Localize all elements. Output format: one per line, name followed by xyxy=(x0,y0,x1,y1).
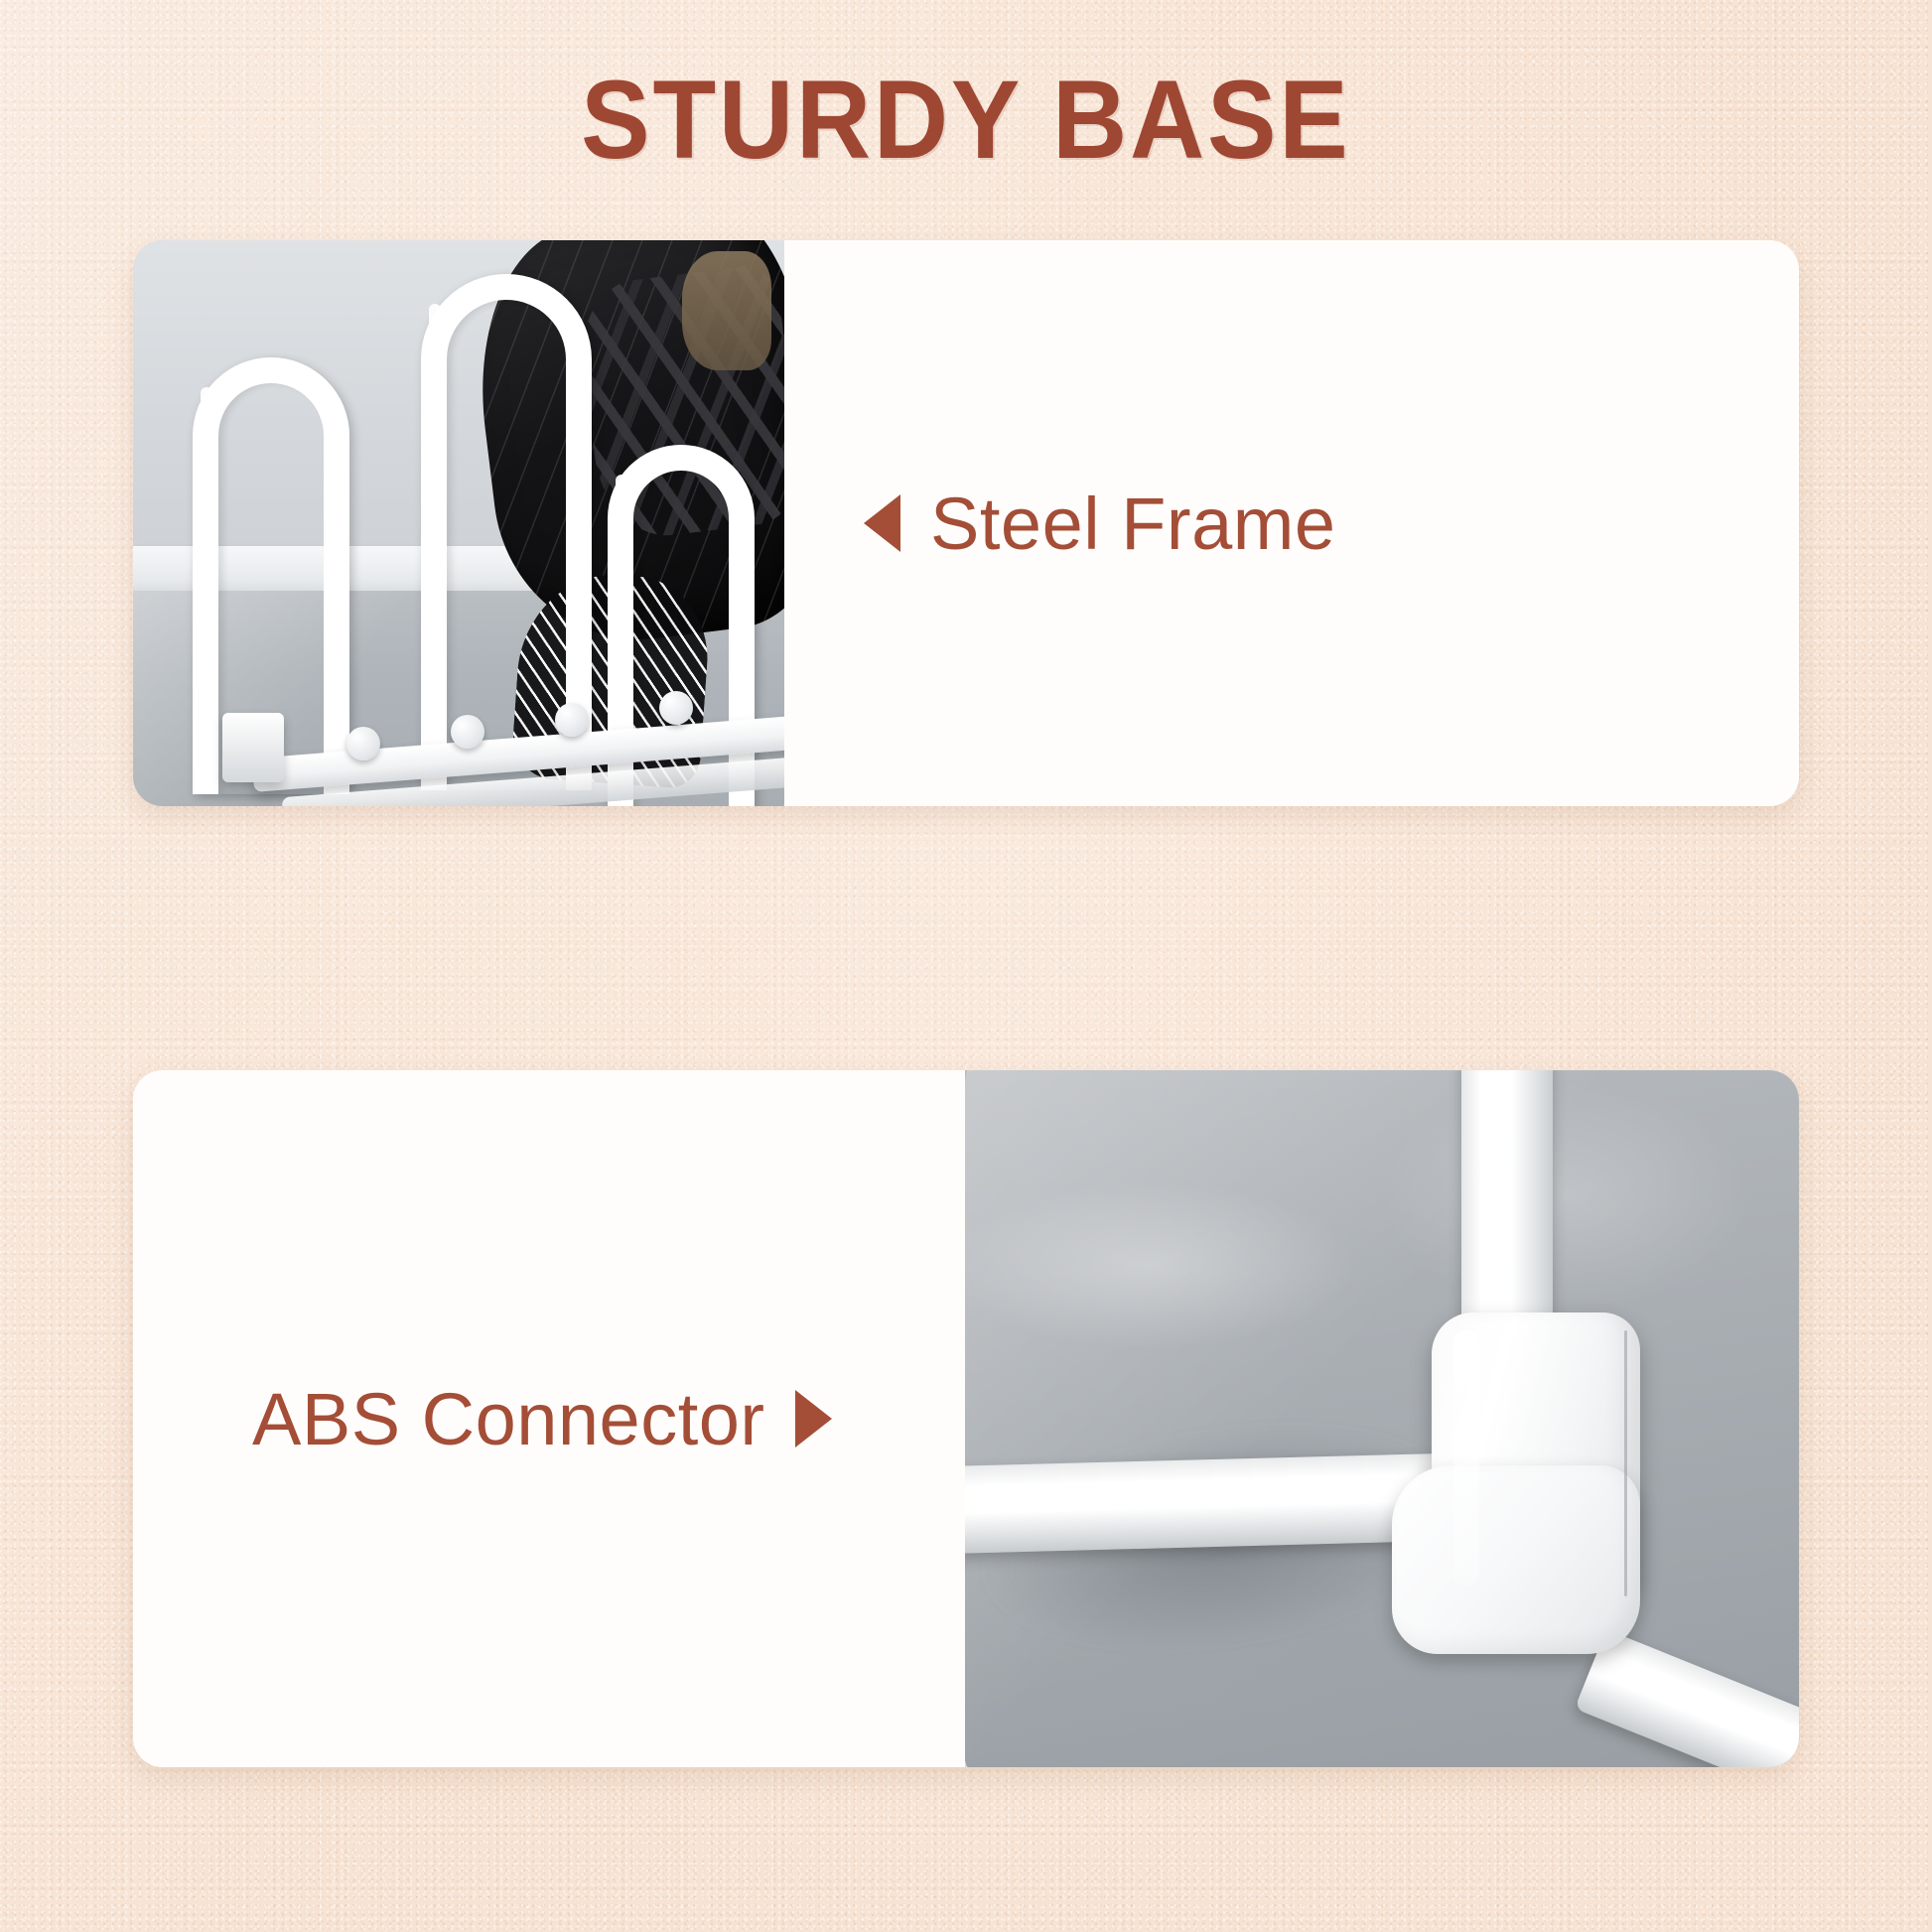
abs-connector-lower-joint xyxy=(1392,1465,1640,1654)
feature-card-steel-frame: Steel Frame xyxy=(133,240,1799,806)
steel-frame-label-panel: Steel Frame xyxy=(784,240,1799,806)
abs-connector-highlight xyxy=(1453,1330,1479,1587)
callout-abs-connector: ABS Connector xyxy=(133,1377,832,1461)
callout-steel-frame: Steel Frame xyxy=(784,482,1336,566)
triangle-right-icon xyxy=(795,1390,832,1448)
page-title-wrapper: STURDY BASE xyxy=(0,62,1932,179)
rack-peg xyxy=(555,703,589,737)
abs-connector-photo xyxy=(965,1070,1799,1767)
sneaker-heel-tab xyxy=(682,251,771,370)
page-title: STURDY BASE xyxy=(581,62,1350,179)
feature-card-abs-connector: ABS Connector xyxy=(133,1070,1799,1767)
rack-foot xyxy=(222,713,284,782)
triangle-left-icon xyxy=(864,494,900,552)
rack-peg xyxy=(659,691,693,725)
shoe-rack-photo xyxy=(133,240,784,806)
abs-connector-label-panel: ABS Connector xyxy=(133,1070,965,1767)
callout-label-abs-connector: ABS Connector xyxy=(252,1377,765,1461)
vertical-frame-pipe xyxy=(1461,1070,1553,1348)
callout-label-steel-frame: Steel Frame xyxy=(930,482,1336,566)
rack-peg xyxy=(346,727,380,760)
product-feature-graphic: STURDY BASE xyxy=(0,0,1932,1932)
abs-connector-seam xyxy=(1624,1330,1627,1596)
rack-peg xyxy=(451,715,484,749)
